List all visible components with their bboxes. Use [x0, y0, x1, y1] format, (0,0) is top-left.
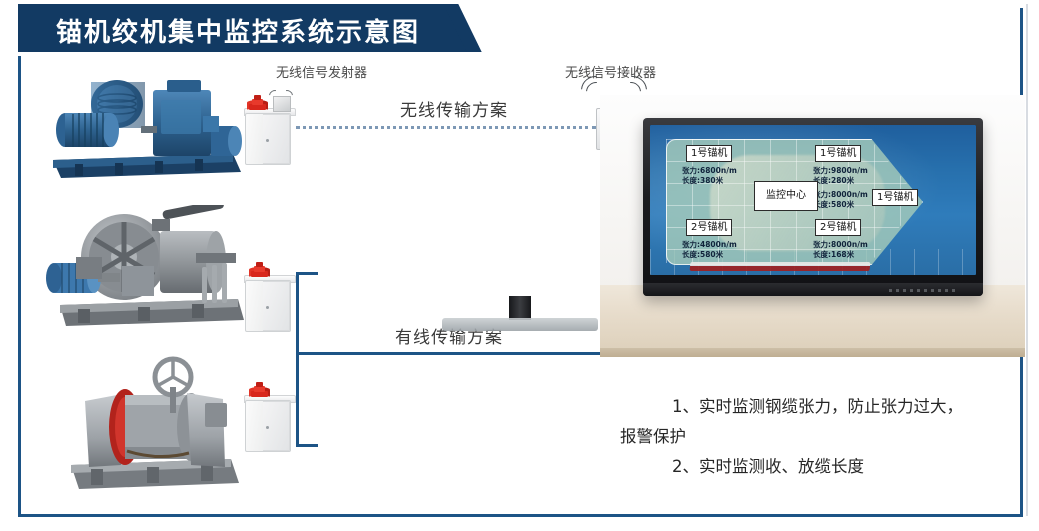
winch-machine-3: [55, 355, 255, 495]
tv-stand-base: [442, 318, 598, 331]
feature-line-1: 1、实时监测钢缆张力，防止张力过大，: [672, 392, 963, 422]
tv-indicator-leds: [889, 289, 959, 292]
ship-waterline: [690, 262, 871, 271]
station-3-length: 长度:580米: [682, 250, 723, 260]
station-box-4[interactable]: 2号锚机: [815, 219, 861, 236]
feature-line-3: 2、实时监测收、放缆长度: [672, 452, 864, 482]
winch-machine-1: [45, 68, 250, 188]
wireless-scheme-label: 无线传输方案: [400, 96, 508, 121]
diagram-page: 锚机绞机集中监控系统示意图: [0, 0, 1039, 531]
station-2-length: 长度:280米: [813, 176, 854, 186]
wired-branch-top: [296, 272, 318, 275]
winch-machine-2: [42, 205, 257, 330]
station-box-3[interactable]: 2号锚机: [686, 219, 732, 236]
control-cabinet-1: [243, 95, 295, 165]
desk-edge: [600, 348, 1025, 357]
tension-sensor-icon: [251, 262, 271, 278]
extra-length: 长度:580米: [813, 200, 854, 210]
page-title: 锚机绞机集中监控系统示意图: [56, 12, 420, 49]
transmitter-label: 无线信号发射器: [276, 62, 367, 81]
station-1-length: 长度:380米: [682, 176, 723, 186]
wireless-signal-path: [296, 126, 596, 129]
tv-screen: 1号锚机 张力:6800n/m 长度:380米 1号锚机 张力:9800n/m …: [650, 125, 976, 275]
receiver-label: 无线信号接收器: [565, 62, 656, 81]
station-1-tension: 张力:6800n/m: [682, 166, 737, 176]
frame-bottom-border: [18, 514, 1023, 517]
tv-stand-neck: [509, 296, 531, 320]
station-3-tension: 张力:4800n/m: [682, 240, 737, 250]
station-4-tension: 张力:8000n/m: [813, 240, 868, 250]
wired-branch-bottom: [296, 444, 318, 447]
feature-line-2: 报警保护: [620, 422, 686, 452]
station-2-tension: 张力:9800n/m: [813, 166, 868, 176]
monitoring-center-box[interactable]: 监控中心: [754, 181, 818, 211]
station-box-2[interactable]: 1号锚机: [815, 145, 861, 162]
station-4-length: 长度:168米: [813, 250, 854, 260]
station-box-1[interactable]: 1号锚机: [686, 145, 732, 162]
wired-trunk-vertical: [296, 272, 299, 447]
tv-bezel-bottom: [643, 283, 983, 296]
frame-right-accent: [1026, 4, 1028, 516]
control-cabinet-3: [243, 382, 295, 452]
tension-sensor-icon: [249, 95, 269, 111]
tension-sensor-icon: [251, 382, 271, 398]
bow-station-box[interactable]: 1号锚机: [872, 189, 918, 206]
extra-tension: 张力:8000n/m: [813, 190, 868, 200]
frame-left-border: [18, 56, 21, 514]
control-cabinet-2: [243, 262, 295, 332]
tv-monitor: 1号锚机 张力:6800n/m 长度:380米 1号锚机 张力:9800n/m …: [643, 118, 983, 296]
